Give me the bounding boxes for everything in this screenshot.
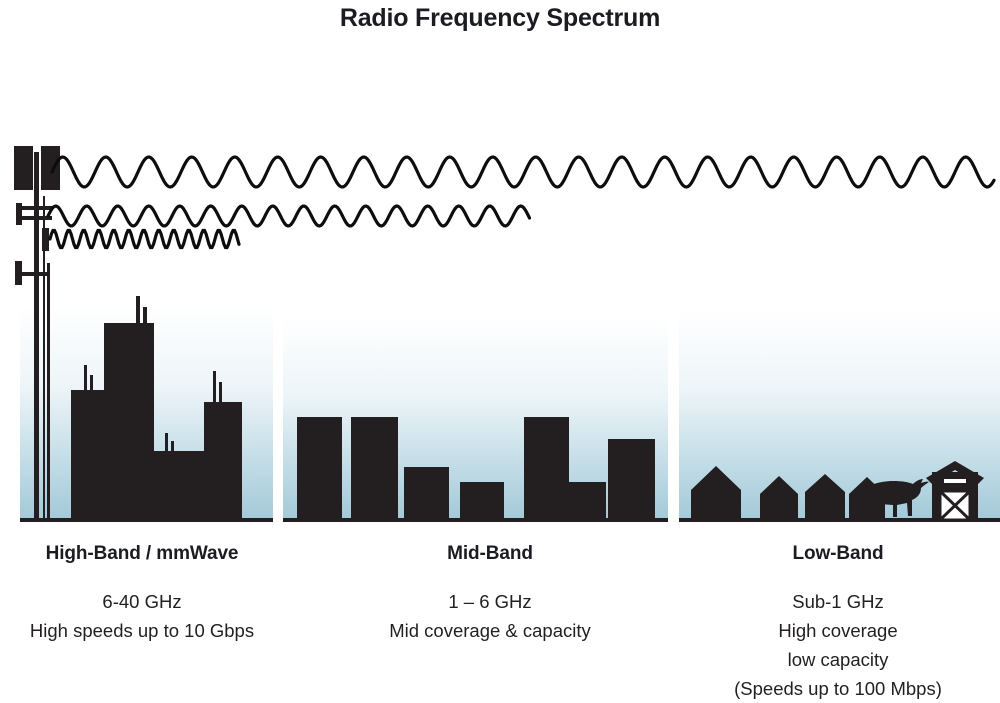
building: [154, 451, 204, 520]
band-frequency-high-band: 6-40 GHz: [0, 587, 284, 616]
band-caption-low-band: Low-Band Sub-1 GHz High coverage low cap…: [676, 543, 1000, 703]
building: [460, 482, 504, 520]
band-detail-line: High coverage: [676, 616, 1000, 645]
band-details-low-band: Sub-1 GHz High coverage low capacity (Sp…: [676, 587, 1000, 703]
antenna-panel-small: [42, 228, 49, 251]
building: [297, 417, 342, 520]
antenna-spire: [219, 382, 222, 403]
band-frequency-low-band: Sub-1 GHz: [676, 587, 1000, 616]
antenna-crossarm: [20, 272, 48, 276]
antenna-panel-small: [15, 261, 22, 285]
tower-mast-secondary: [47, 263, 50, 520]
band-detail-line: low capacity: [676, 645, 1000, 674]
building: [351, 417, 398, 520]
building: [524, 417, 569, 520]
antenna-spire: [213, 371, 216, 403]
building: [608, 439, 655, 520]
barn-vent: [944, 479, 966, 483]
band-captions: High-Band / mmWave 6-40 GHz High speeds …: [0, 543, 1000, 700]
building: [71, 390, 104, 520]
band-caption-mid-band: Mid-Band 1 – 6 GHz Mid coverage & capaci…: [330, 543, 650, 645]
band-detail-line: Mid coverage & capacity: [330, 616, 650, 645]
antenna-panel: [41, 146, 60, 190]
antenna-spire: [136, 296, 140, 326]
building: [404, 467, 449, 520]
antenna-crossarm: [20, 206, 52, 210]
building: [569, 482, 606, 520]
band-details-mid-band: 1 – 6 GHz Mid coverage & capacity: [330, 587, 650, 645]
high-frequency-wave: [50, 230, 239, 247]
page-title: Radio Frequency Spectrum: [0, 4, 1000, 33]
band-title-high-band: High-Band / mmWave: [0, 543, 284, 565]
antenna-panel-small: [16, 203, 22, 225]
band-caption-high-band: High-Band / mmWave 6-40 GHz High speeds …: [0, 543, 284, 645]
low-frequency-wave: [52, 157, 994, 187]
band-detail-line: (Speeds up to 100 Mbps): [676, 674, 1000, 703]
radio-waves: [48, 157, 994, 248]
band-details-high-band: 6-40 GHz High speeds up to 10 Gbps: [0, 587, 284, 645]
band-frequency-mid-band: 1 – 6 GHz: [330, 587, 650, 616]
band-title-low-band: Low-Band: [676, 543, 1000, 565]
building: [104, 323, 154, 520]
band-detail-line: High speeds up to 10 Gbps: [0, 616, 284, 645]
building: [204, 402, 242, 520]
mid-frequency-wave: [48, 206, 530, 226]
band-title-mid-band: Mid-Band: [330, 543, 650, 565]
rf-spectrum-figure: Radio Frequency Spectrum High-Band / mmW…: [0, 0, 1000, 700]
antenna-panel: [14, 146, 33, 190]
